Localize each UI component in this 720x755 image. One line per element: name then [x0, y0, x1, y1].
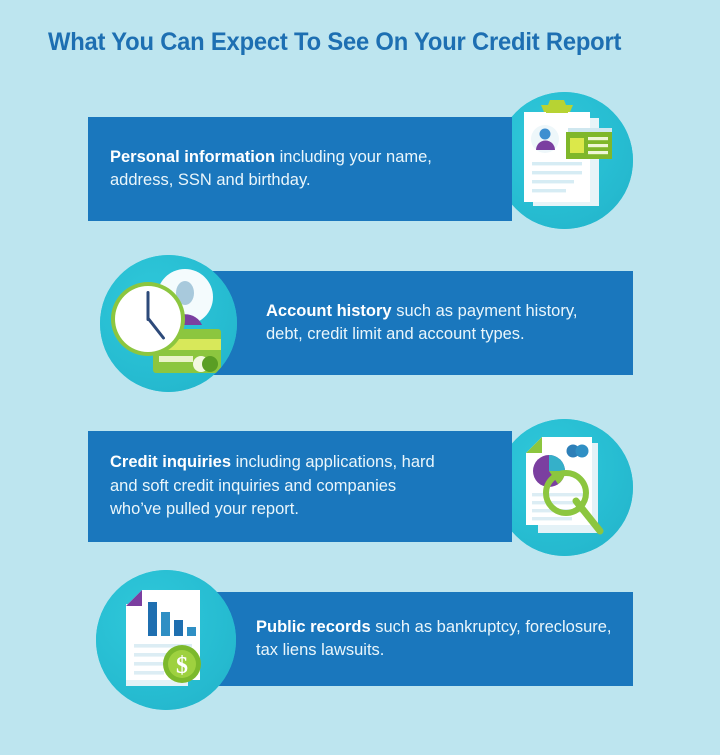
- bar-chart-document-dollar-icon: $: [96, 570, 236, 710]
- bar-text-account-history: Account history such as payment history,…: [266, 300, 613, 347]
- bar-lead-credit-inquiries: Credit inquiries: [110, 453, 231, 471]
- bar-lead-personal-information: Personal information: [110, 148, 275, 166]
- icon-circle-fill: [496, 92, 633, 229]
- bar-public-records: Public records such as bankruptcy, forec…: [210, 592, 633, 686]
- bar-account-history: Account history such as payment history,…: [210, 271, 633, 375]
- clock-credit-card-person-icon: [100, 255, 237, 392]
- icon-circle-fill: [496, 419, 633, 556]
- clipboard-id-card-icon: [496, 92, 633, 229]
- icon-circle-fill: [100, 255, 237, 392]
- bar-text-credit-inquiries: Credit inquiries including applications,…: [110, 451, 450, 521]
- icon-circle-personal-information: [496, 92, 633, 229]
- bar-personal-information: Personal information including your name…: [88, 117, 512, 221]
- icon-circle-credit-inquiries: [496, 419, 633, 556]
- bar-credit-inquiries: Credit inquiries including applications,…: [88, 431, 512, 542]
- bar-lead-public-records: Public records: [256, 618, 371, 636]
- bar-text-personal-information: Personal information including your name…: [110, 146, 452, 193]
- bar-lead-account-history: Account history: [266, 302, 392, 320]
- bar-text-public-records: Public records such as bankruptcy, forec…: [256, 616, 613, 663]
- infographic-canvas: What You Can Expect To See On Your Credi…: [0, 0, 720, 755]
- svg-text:$: $: [176, 653, 188, 679]
- icon-circle-account-history: [100, 255, 237, 392]
- icon-circle-fill: $: [96, 570, 236, 710]
- icon-circle-public-records: $: [96, 570, 236, 710]
- report-magnifier-icon: [496, 419, 633, 556]
- page-title: What You Can Expect To See On Your Credi…: [48, 28, 621, 57]
